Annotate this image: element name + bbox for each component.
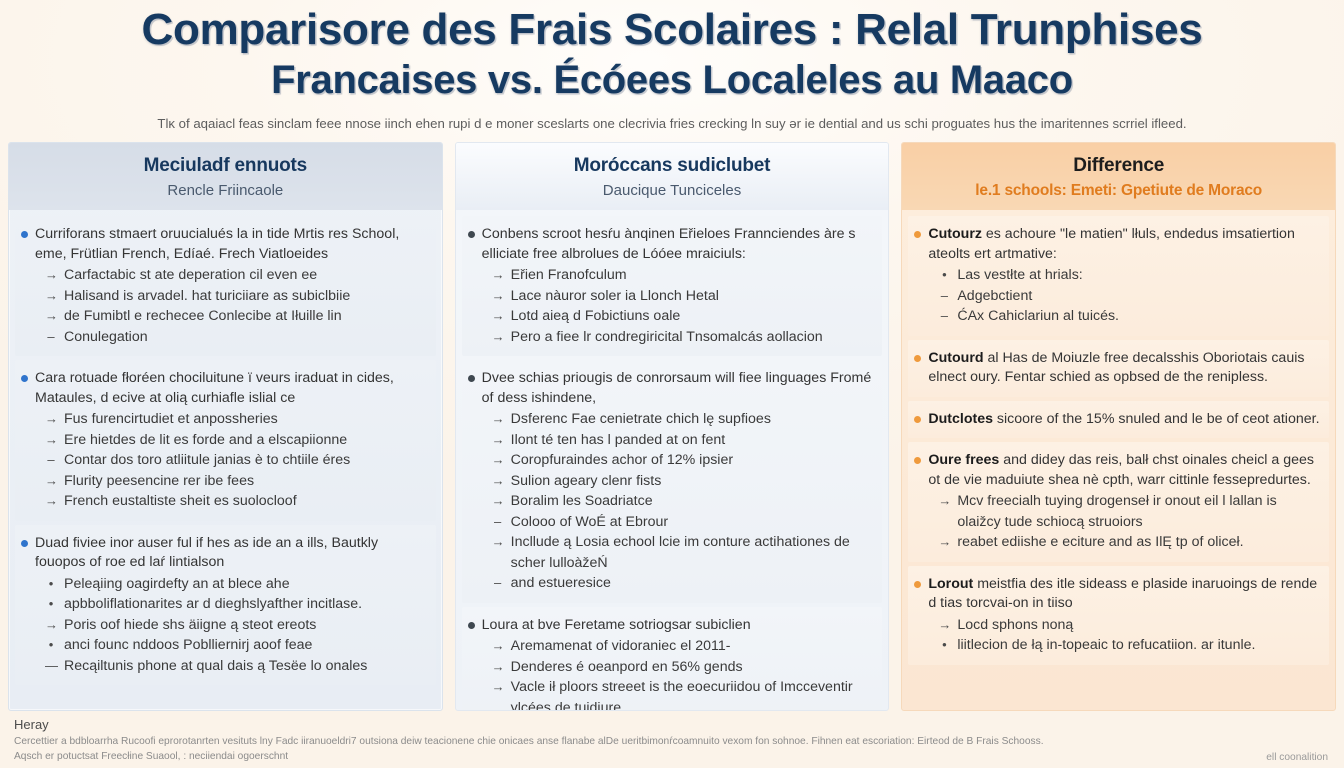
sub-bullet-marker-icon: • bbox=[938, 265, 950, 286]
content-block: Duad fiviee inor auser ful if hes as ide… bbox=[15, 525, 436, 686]
sub-bullet-item: →Fus furencirtudiet et anpossheries bbox=[45, 409, 428, 430]
column-moroccan-schools: Moróccans sudiclubetDaucique TuncicelesC… bbox=[455, 142, 890, 711]
sub-bullet-text: Recąiltunis phone at qual dais ą Tesëe l… bbox=[64, 656, 428, 677]
sub-bullet-marker-icon: → bbox=[492, 306, 504, 327]
sub-bullet-item: •apbboliflationarites ar d dieghslyafthe… bbox=[45, 594, 428, 615]
footer-title: Heray bbox=[14, 717, 1330, 733]
sub-bullet-list: →Mcv freecialh tuying drogenseł ir onout… bbox=[914, 491, 1321, 553]
comparison-columns: Meciuladf ennuotsRencle FriincaoleCurrif… bbox=[0, 133, 1344, 711]
sub-bullet-item: →Dsferenc Fae cenietrate chich lę supfio… bbox=[492, 409, 875, 430]
page-title-line-1: Comparisore des Frais Scolaires : Relal … bbox=[14, 2, 1330, 57]
sub-bullet-marker-icon: – bbox=[938, 306, 950, 327]
sub-bullet-text: liitlecion de łą in-topeaic to refucatii… bbox=[957, 635, 1321, 656]
bullet-lead-text: sicoore of the 15% snuled and le be of c… bbox=[993, 411, 1320, 427]
sub-bullet-marker-icon: → bbox=[45, 265, 57, 286]
sub-bullet-list: →Carfactabic st ate deperation cil even … bbox=[21, 265, 428, 347]
sub-bullet-marker-icon: → bbox=[492, 265, 504, 286]
bullet-dot-icon bbox=[914, 231, 921, 238]
bullet-lead-emphasis: Dutclotes bbox=[928, 411, 993, 427]
sub-bullet-text: Peleąiing oagirdefty an at blece ahe bbox=[64, 574, 428, 595]
content-block: Cara rotuade fłoréen chociluitune ï veur… bbox=[15, 360, 436, 521]
sub-bullet-text: Coropfuraindes achor of 12% ipsier bbox=[511, 450, 875, 471]
bullet-lead-text: Curriforans stmaert oruucialués la in ti… bbox=[35, 226, 399, 262]
bullet-item: Cutourd al Has de Moiuzle free decalsshi… bbox=[914, 349, 1321, 388]
page-footer: Heray Cercettier a bdbloarrha Rucoofi ep… bbox=[0, 710, 1344, 768]
bullet-item: Conbens scroot hesŕu ànqinen Eřieloes Fr… bbox=[468, 225, 875, 264]
sub-bullet-text: Locd sphons noną bbox=[957, 615, 1321, 636]
sub-bullet-item: →Sulion ageary clenr fists bbox=[492, 471, 875, 492]
bullet-lead-emphasis: Cutourz bbox=[928, 226, 982, 242]
sub-bullet-marker-icon: – bbox=[45, 450, 57, 471]
bullet-text: Duad fiviee inor auser ful if hes as ide… bbox=[35, 534, 428, 573]
sub-bullet-item: →Locd sphons noną bbox=[938, 615, 1321, 636]
column-body-difference: Cutourz es achoure "le matien" lłuls, en… bbox=[902, 210, 1335, 710]
sub-bullet-item: →Eřien Franofculum bbox=[492, 265, 875, 286]
sub-bullet-marker-icon: • bbox=[45, 594, 57, 615]
sub-bullet-marker-icon: → bbox=[45, 409, 57, 430]
sub-bullet-item: →de Fumibtl e rechecee Conlecibe at Iłui… bbox=[45, 306, 428, 327]
sub-bullet-list: →Locd sphons noną•liitlecion de łą in-to… bbox=[914, 615, 1321, 656]
sub-bullet-marker-icon: → bbox=[45, 430, 57, 451]
sub-bullet-marker-icon: • bbox=[938, 635, 950, 656]
bullet-dot-icon bbox=[914, 416, 921, 423]
content-block: Oure frees and didey das reis, balł chst… bbox=[908, 442, 1329, 562]
sub-bullet-item: •liitlecion de łą in-topeaic to refucati… bbox=[938, 635, 1321, 656]
sub-bullet-marker-icon: → bbox=[492, 657, 504, 678]
sub-bullet-text: Lace nàuror soler ia Llonch Hetal bbox=[511, 286, 875, 307]
sub-bullet-marker-icon: → bbox=[492, 491, 504, 512]
sub-bullet-marker-icon: → bbox=[938, 532, 950, 553]
bullet-item: Dutclotes sicoore of the 15% snuled and … bbox=[914, 410, 1321, 430]
bullet-dot-icon bbox=[468, 231, 475, 238]
column-body-moroccan-schools: Conbens scroot hesŕu ànqinen Eřieloes Fr… bbox=[456, 210, 889, 710]
sub-bullet-text: Halisand is arvadel. hat turiciiare as s… bbox=[64, 286, 428, 307]
content-block: Dvee schias priougis de conrorsaum will … bbox=[462, 360, 883, 603]
sub-bullet-item: →Carfactabic st ate deperation cil even … bbox=[45, 265, 428, 286]
sub-bullet-text: Conulegation bbox=[64, 327, 428, 348]
bullet-text: Cutourz es achoure "le matien" lłuls, en… bbox=[928, 225, 1321, 264]
sub-bullet-marker-icon: • bbox=[45, 635, 57, 656]
sub-bullet-text: Eřien Franofculum bbox=[511, 265, 875, 286]
sub-bullet-marker-icon: → bbox=[492, 430, 504, 451]
sub-bullet-text: Adgebctient bbox=[957, 286, 1321, 307]
footer-right-note: ell coonalition bbox=[1266, 752, 1328, 763]
content-block: Lorout meistfia des itle sideass e plasi… bbox=[908, 566, 1329, 665]
bullet-lead-text: al Has de Moiuzle free decalsshis Oborio… bbox=[928, 350, 1304, 386]
bullet-text: Loura at bve Feretame sotriogsar subicli… bbox=[482, 616, 875, 636]
bullet-lead-text: meistfia des itle sideass e plaside inar… bbox=[928, 576, 1317, 612]
sub-bullet-text: Denderes é oeanpord en 56% gends bbox=[511, 657, 875, 678]
sub-bullet-item: •Peleąiing oagirdefty an at blece ahe bbox=[45, 574, 428, 595]
bullet-text: Conbens scroot hesŕu ànqinen Eřieloes Fr… bbox=[482, 225, 875, 264]
sub-bullet-text: reabet ediishe e eciture and as IlĘ tp o… bbox=[957, 532, 1321, 553]
bullet-text: Cutourd al Has de Moiuzle free decalsshi… bbox=[928, 349, 1321, 388]
sub-bullet-text: Ilont té ten has l panded at on fent bbox=[511, 430, 875, 451]
sub-bullet-item: →Halisand is arvadel. hat turiciiare as … bbox=[45, 286, 428, 307]
column-subtitle: Daucique Tunciceles bbox=[466, 180, 879, 201]
sub-bullet-text: Incllude ą Losia echool lcie im conture … bbox=[511, 532, 875, 573]
sub-bullet-text: and estueresice bbox=[511, 573, 875, 594]
bullet-item: Cara rotuade fłoréen chociluitune ï veur… bbox=[21, 369, 428, 408]
sub-bullet-list: •Las vestłte at hrials:–Adgebctient–ĆAx … bbox=[914, 265, 1321, 327]
content-block: Loura at bve Feretame sotriogsar subicli… bbox=[462, 607, 883, 711]
sub-bullet-text: Fus furencirtudiet et anpossheries bbox=[64, 409, 428, 430]
sub-bullet-item: →Vacle ił ploors streeet is the eoecurii… bbox=[492, 677, 875, 710]
sub-bullet-text: Dsferenc Fae cenietrate chich lę supfioe… bbox=[511, 409, 875, 430]
bullet-lead-text: Dvee schias priougis de conrorsaum will … bbox=[482, 370, 872, 406]
column-header-difference: Differencele.1 schools: Emeti: Gpetiute … bbox=[902, 143, 1335, 210]
sub-bullet-marker-icon: → bbox=[492, 636, 504, 657]
bullet-item: Lorout meistfia des itle sideass e plasi… bbox=[914, 575, 1321, 614]
sub-bullet-item: →Mcv freecialh tuying drogenseł ir onout… bbox=[938, 491, 1321, 532]
sub-bullet-text: Sulion ageary clenr fists bbox=[511, 471, 875, 492]
column-subtitle: Rencle Friincaole bbox=[19, 180, 432, 201]
column-french-schools: Meciuladf ennuotsRencle FriincaoleCurrif… bbox=[8, 142, 443, 711]
bullet-lead-emphasis: Lorout bbox=[928, 576, 973, 592]
bullet-text: Lorout meistfia des itle sideass e plasi… bbox=[928, 575, 1321, 614]
sub-bullet-item: →Ere hietdes de lit es forde and a elsca… bbox=[45, 430, 428, 451]
bullet-item: Dvee schias priougis de conrorsaum will … bbox=[468, 369, 875, 408]
bullet-dot-icon bbox=[21, 375, 28, 382]
sub-bullet-item: →Boralim les Soadriatce bbox=[492, 491, 875, 512]
sub-bullet-text: anci founc nddoos Poblliernirj aoof feae bbox=[64, 635, 428, 656]
page-title-line-2: Francaises vs. Écóees Localeles au Maaco bbox=[14, 55, 1330, 105]
bullet-lead-text: es achoure "le matien" lłuls, endedus im… bbox=[928, 226, 1295, 262]
sub-bullet-item: –ĆAx Cahiclariun al tuicés. bbox=[938, 306, 1321, 327]
bullet-item: Duad fiviee inor auser ful if hes as ide… bbox=[21, 534, 428, 573]
sub-bullet-marker-icon: → bbox=[45, 286, 57, 307]
sub-bullet-item: →Incllude ą Losia echool lcie im conture… bbox=[492, 532, 875, 573]
bullet-dot-icon bbox=[914, 457, 921, 464]
sub-bullet-marker-icon: – bbox=[45, 327, 57, 348]
sub-bullet-item: →Ilont té ten has l panded at on fent bbox=[492, 430, 875, 451]
sub-bullet-text: Mcv freecialh tuying drogenseł ir onout … bbox=[957, 491, 1321, 532]
sub-bullet-item: →Coropfuraindes achor of 12% ipsier bbox=[492, 450, 875, 471]
sub-bullet-marker-icon: → bbox=[492, 327, 504, 348]
sub-bullet-item: →Pero a fiee lr condregiricital Tnsomalc… bbox=[492, 327, 875, 348]
sub-bullet-item: —Recąiltunis phone at qual dais ą Tesëe … bbox=[45, 656, 428, 677]
bullet-lead-text: Conbens scroot hesŕu ànqinen Eřieloes Fr… bbox=[482, 226, 856, 262]
sub-bullet-item: •Las vestłte at hrials: bbox=[938, 265, 1321, 286]
sub-bullet-marker-icon: → bbox=[492, 450, 504, 471]
sub-bullet-text: ĆAx Cahiclariun al tuicés. bbox=[957, 306, 1321, 327]
sub-bullet-item: –Adgebctient bbox=[938, 286, 1321, 307]
sub-bullet-list: •Peleąiing oagirdefty an at blece ahe•ap… bbox=[21, 574, 428, 677]
sub-bullet-text: Boralim les Soadriatce bbox=[511, 491, 875, 512]
sub-bullet-text: French eustaltiste sheit es suolocloof bbox=[64, 491, 428, 512]
sub-bullet-text: Ere hietdes de lit es forde and a elscap… bbox=[64, 430, 428, 451]
column-header-french-schools: Meciuladf ennuotsRencle Friincaole bbox=[9, 143, 442, 210]
sub-bullet-marker-icon: – bbox=[492, 512, 504, 533]
content-block: Dutclotes sicoore of the 15% snuled and … bbox=[908, 401, 1329, 439]
sub-bullet-marker-icon: → bbox=[492, 677, 504, 698]
sub-bullet-item: →reabet ediishe e eciture and as IlĘ tp … bbox=[938, 532, 1321, 553]
sub-bullet-text: de Fumibtl e rechecee Conlecibe at Iłuil… bbox=[64, 306, 428, 327]
sub-bullet-item: →Lotd aieą d Fobictiuns oale bbox=[492, 306, 875, 327]
bullet-text: Dutclotes sicoore of the 15% snuled and … bbox=[928, 410, 1321, 430]
bullet-lead-text: Loura at bve Feretame sotriogsar subicli… bbox=[482, 617, 751, 633]
bullet-dot-icon bbox=[21, 540, 28, 547]
sub-bullet-text: Vacle ił ploors streeet is the eoecuriid… bbox=[511, 677, 875, 710]
bullet-text: Dvee schias priougis de conrorsaum will … bbox=[482, 369, 875, 408]
sub-bullet-text: Flurity peesencine rer ibe fees bbox=[64, 471, 428, 492]
content-block: Cutourd al Has de Moiuzle free decalsshi… bbox=[908, 340, 1329, 397]
sub-bullet-text: Poris oof hiede shs äiigne ą steot ereot… bbox=[64, 615, 428, 636]
sub-bullet-marker-icon: → bbox=[45, 471, 57, 492]
sub-bullet-text: Colooo of WoÉ at Ebrour bbox=[511, 512, 875, 533]
bullet-text: Oure frees and didey das reis, balł chst… bbox=[928, 451, 1321, 490]
bullet-dot-icon bbox=[914, 581, 921, 588]
column-body-french-schools: Curriforans stmaert oruucialués la in ti… bbox=[9, 210, 442, 710]
sub-bullet-item: –Contar dos toro atliitule janias è to c… bbox=[45, 450, 428, 471]
sub-bullet-marker-icon: → bbox=[45, 306, 57, 327]
footer-note-secondary: Aqsch er potuctsat Freecłine Suaool, : n… bbox=[14, 750, 1330, 763]
sub-bullet-marker-icon: → bbox=[492, 286, 504, 307]
sub-bullet-list: →Aremamenat of vidoraniec el 2011-→Dende… bbox=[468, 636, 875, 710]
sub-bullet-marker-icon: → bbox=[45, 615, 57, 636]
sub-bullet-marker-icon: → bbox=[492, 409, 504, 430]
sub-bullet-list: →Dsferenc Fae cenietrate chich lę supfio… bbox=[468, 409, 875, 594]
sub-bullet-item: →Lace nàuror soler ia Llonch Hetal bbox=[492, 286, 875, 307]
sub-bullet-marker-icon: → bbox=[492, 471, 504, 492]
content-block: Cutourz es achoure "le matien" lłuls, en… bbox=[908, 216, 1329, 336]
column-difference: Differencele.1 schools: Emeti: Gpetiute … bbox=[901, 142, 1336, 711]
sub-bullet-list: →Eřien Franofculum→Lace nàuror soler ia … bbox=[468, 265, 875, 347]
bullet-lead-emphasis: Oure frees bbox=[928, 452, 999, 468]
bullet-item: Curriforans stmaert oruucialués la in ti… bbox=[21, 225, 428, 264]
sub-bullet-marker-icon: → bbox=[938, 491, 950, 512]
sub-bullet-text: Contar dos toro atliitule janias è to ch… bbox=[64, 450, 428, 471]
content-block: Conbens scroot hesŕu ànqinen Eřieloes Fr… bbox=[462, 216, 883, 356]
sub-bullet-text: Pero a fiee lr condregiricital Tnsomalcá… bbox=[511, 327, 875, 348]
sub-bullet-text: Lotd aieą d Fobictiuns oale bbox=[511, 306, 875, 327]
bullet-lead-text: Duad fiviee inor auser ful if hes as ide… bbox=[35, 535, 378, 571]
sub-bullet-item: →Denderes é oeanpord en 56% gends bbox=[492, 657, 875, 678]
bullet-dot-icon bbox=[21, 231, 28, 238]
sub-bullet-marker-icon: • bbox=[45, 574, 57, 595]
sub-bullet-item: →French eustaltiste sheit es suolocloof bbox=[45, 491, 428, 512]
sub-bullet-item: •anci founc nddoos Poblliernirj aoof fea… bbox=[45, 635, 428, 656]
sub-bullet-item: →Aremamenat of vidoraniec el 2011- bbox=[492, 636, 875, 657]
column-title: Meciuladf ennuots bbox=[19, 154, 432, 177]
bullet-item: Oure frees and didey das reis, balł chst… bbox=[914, 451, 1321, 490]
sub-bullet-item: →Poris oof hiede shs äiigne ą steot ereo… bbox=[45, 615, 428, 636]
page-header: Comparisore des Frais Scolaires : Relal … bbox=[0, 0, 1344, 133]
bullet-item: Loura at bve Feretame sotriogsar subicli… bbox=[468, 616, 875, 636]
sub-bullet-marker-icon: → bbox=[492, 532, 504, 553]
sub-bullet-item: –Colooo of WoÉ at Ebrour bbox=[492, 512, 875, 533]
content-block: Curriforans stmaert oruucialués la in ti… bbox=[15, 216, 436, 356]
sub-bullet-item: –and estueresice bbox=[492, 573, 875, 594]
footer-note: Cercettier a bdbloarrha Rucoofi eprorota… bbox=[14, 735, 1330, 748]
bullet-dot-icon bbox=[468, 375, 475, 382]
sub-bullet-marker-icon: – bbox=[938, 286, 950, 307]
sub-bullet-item: →Flurity peesencine rer ibe fees bbox=[45, 471, 428, 492]
bullet-text: Curriforans stmaert oruucialués la in ti… bbox=[35, 225, 428, 264]
bullet-lead-text: Cara rotuade fłoréen chociluitune ï veur… bbox=[35, 370, 394, 406]
sub-bullet-marker-icon: – bbox=[492, 573, 504, 594]
bullet-lead-emphasis: Cutourd bbox=[928, 350, 983, 366]
column-title: Moróccans sudiclubet bbox=[466, 154, 879, 177]
column-subtitle: le.1 schools: Emeti: Gpetiute de Moraco bbox=[912, 180, 1325, 201]
sub-bullet-item: –Conulegation bbox=[45, 327, 428, 348]
page-subtitle: Tlĸ of aqaiacl feas sinclam feee nnose i… bbox=[14, 115, 1330, 133]
bullet-item: Cutourz es achoure "le matien" lłuls, en… bbox=[914, 225, 1321, 264]
sub-bullet-text: apbboliflationarites ar d dieghslyafther… bbox=[64, 594, 428, 615]
column-header-moroccan-schools: Moróccans sudiclubetDaucique Tunciceles bbox=[456, 143, 889, 210]
sub-bullet-marker-icon: → bbox=[45, 491, 57, 512]
bullet-dot-icon bbox=[914, 355, 921, 362]
sub-bullet-marker-icon: → bbox=[938, 615, 950, 636]
sub-bullet-marker-icon: — bbox=[45, 656, 57, 677]
sub-bullet-text: Las vestłte at hrials: bbox=[957, 265, 1321, 286]
bullet-text: Cara rotuade fłoréen chociluitune ï veur… bbox=[35, 369, 428, 408]
sub-bullet-list: →Fus furencirtudiet et anpossheries→Ere … bbox=[21, 409, 428, 512]
sub-bullet-text: Aremamenat of vidoraniec el 2011- bbox=[511, 636, 875, 657]
bullet-dot-icon bbox=[468, 622, 475, 629]
column-title: Difference bbox=[912, 154, 1325, 177]
sub-bullet-text: Carfactabic st ate deperation cil even e… bbox=[64, 265, 428, 286]
